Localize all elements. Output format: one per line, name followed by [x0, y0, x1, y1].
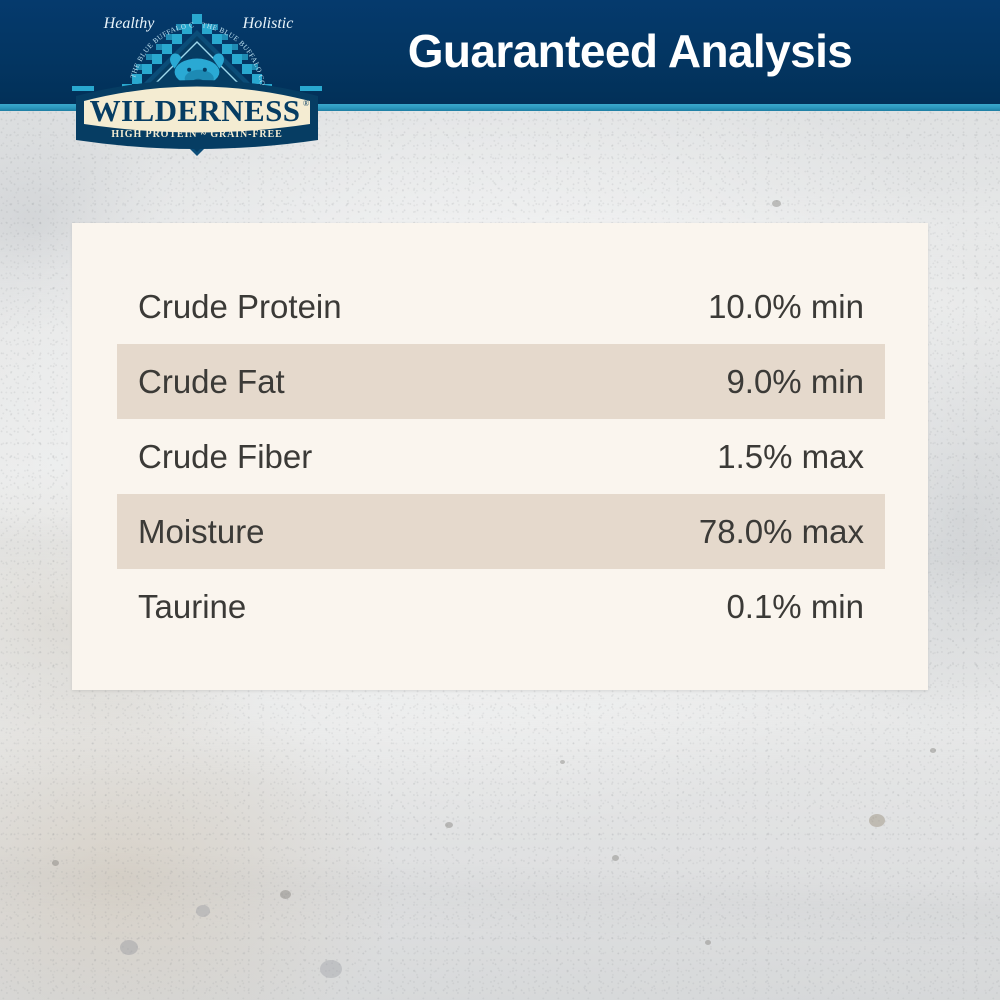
guaranteed-analysis-table: Crude Protein 10.0% min Crude Fat 9.0% m… [117, 269, 885, 644]
nutrient-value: 10.0% min [664, 269, 864, 344]
nutrient-label: Crude Fat [138, 344, 285, 419]
logo-tagline-right: Holistic [242, 15, 294, 32]
nutrient-value: 0.1% min [664, 569, 864, 644]
page-title: Guaranteed Analysis [330, 19, 930, 83]
wilderness-sub-banner-text: HIGH PROTEIN ~ GRAIN-FREE [111, 129, 282, 140]
nutrient-value: 78.0% max [664, 494, 864, 569]
guaranteed-analysis-card: Crude Protein 10.0% min Crude Fat 9.0% m… [72, 223, 928, 690]
table-row: Crude Fiber 1.5% max [117, 419, 885, 494]
nutrient-value: 1.5% max [664, 419, 864, 494]
logo-tagline-left: Healthy [103, 15, 156, 32]
table-row: Crude Protein 10.0% min [117, 269, 885, 344]
table-row: Taurine 0.1% min [117, 569, 885, 644]
nutrient-value: 9.0% min [664, 344, 864, 419]
registered-mark: ® [303, 99, 309, 108]
table-row: Crude Fat 9.0% min [117, 344, 885, 419]
nutrient-label: Moisture [138, 494, 265, 569]
nutrient-label: Crude Fiber [138, 419, 312, 494]
wilderness-banner: WILDERNESS ® HIGH PROTEIN ~ GRAIN-FREE [76, 80, 318, 149]
table-row: Moisture 78.0% max [117, 494, 885, 569]
wilderness-banner-text: WILDERNESS [90, 93, 301, 128]
nutrient-label: Taurine [138, 569, 246, 644]
nutrient-label: Crude Protein [138, 269, 342, 344]
brand-logo: THE BLUE BUFFALO CO. THE BLUE BUFFALO CO… [72, 0, 322, 158]
